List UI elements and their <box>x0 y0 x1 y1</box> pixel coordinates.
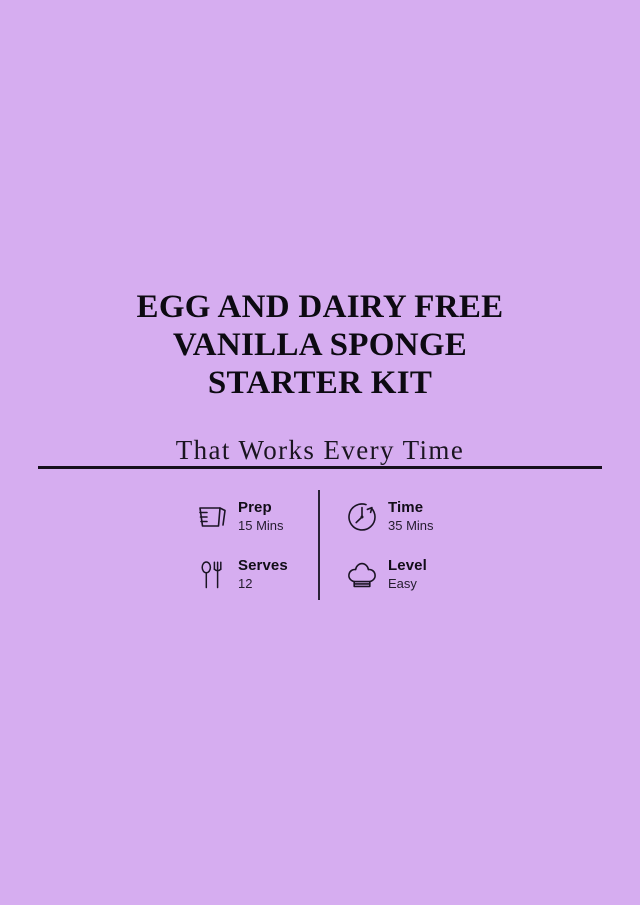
info-text-prep: Prep 15 Mins <box>238 500 284 533</box>
info-item-time: Time 35 Mins <box>318 488 445 546</box>
recipe-poster: EGG AND DAIRY FREE VANILLA SPONGE STARTE… <box>0 0 640 905</box>
info-text-serves: Serves 12 <box>238 558 288 591</box>
info-label-serves: Serves <box>238 558 288 575</box>
info-text-level: Level Easy <box>388 558 427 591</box>
page-title: EGG AND DAIRY FREE VANILLA SPONGE STARTE… <box>0 288 640 402</box>
info-label-time: Time <box>388 500 434 517</box>
info-label-level: Level <box>388 558 427 575</box>
title-line-2: VANILLA SPONGE <box>0 326 640 364</box>
info-item-prep: Prep 15 Mins <box>195 488 318 546</box>
page-subtitle: That Works Every Time <box>0 434 640 466</box>
info-value-level: Easy <box>388 577 427 592</box>
info-value-time: 35 Mins <box>388 519 434 534</box>
info-text-time: Time 35 Mins <box>388 500 434 533</box>
info-value-serves: 12 <box>238 577 288 592</box>
title-divider <box>38 466 602 469</box>
info-label-prep: Prep <box>238 500 284 517</box>
info-item-serves: Serves 12 <box>195 546 318 604</box>
clock-timer-icon <box>345 500 379 534</box>
info-value-prep: 15 Mins <box>238 519 284 534</box>
chef-hat-icon <box>345 558 379 592</box>
title-line-3: STARTER KIT <box>0 364 640 402</box>
spoon-fork-icon <box>195 558 229 592</box>
title-line-1: EGG AND DAIRY FREE <box>0 288 640 326</box>
info-item-level: Level Easy <box>318 546 445 604</box>
measuring-jug-icon <box>195 500 229 534</box>
recipe-info-grid: Prep 15 Mins Time 35 Mins <box>195 488 445 604</box>
